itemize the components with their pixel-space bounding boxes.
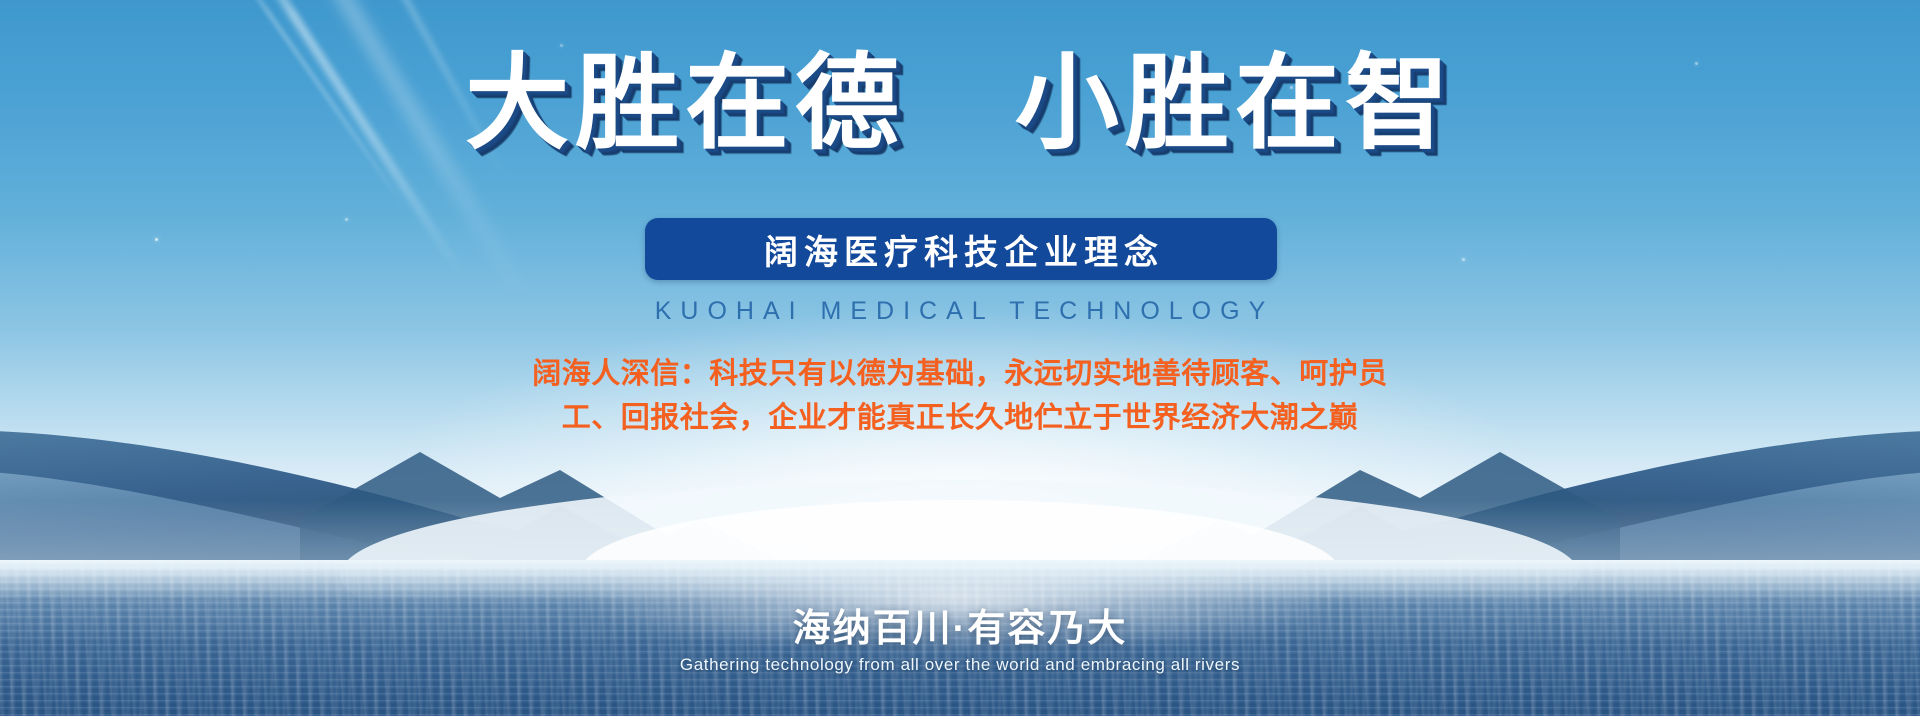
motto-english: Gathering technology from all over the w…: [0, 654, 1920, 676]
philosophy-statement: 阔海人深信：科技只有以德为基础，永远切实地善待顾客、呵护员 工、回报社会，企业才…: [360, 352, 1560, 440]
philosophy-statement-line-2: 工、回报社会，企业才能真正长久地伫立于世界经济大潮之巅: [360, 396, 1560, 440]
motto-chinese: 海纳百川·有容乃大: [0, 606, 1920, 652]
company-english-name: KUOHAI MEDICAL TECHNOLOGY: [0, 296, 1920, 326]
concept-badge: 阔海医疗科技企业理念: [645, 218, 1277, 280]
philosophy-statement-line-1: 阔海人深信：科技只有以德为基础，永远切实地善待顾客、呵护员: [360, 352, 1560, 396]
main-headline: 大胜在德 小胜在智: [0, 48, 1920, 160]
headline-left: 大胜在德: [465, 46, 905, 162]
headline-right: 小胜在智: [1015, 46, 1455, 162]
hero-banner: 大胜在德 小胜在智 阔海医疗科技企业理念 KUOHAI MEDICAL TECH…: [0, 0, 1920, 716]
concept-badge-label: 阔海医疗科技企业理念: [758, 225, 1164, 274]
banner-content: 大胜在德 小胜在智 阔海医疗科技企业理念 KUOHAI MEDICAL TECH…: [0, 0, 1920, 716]
